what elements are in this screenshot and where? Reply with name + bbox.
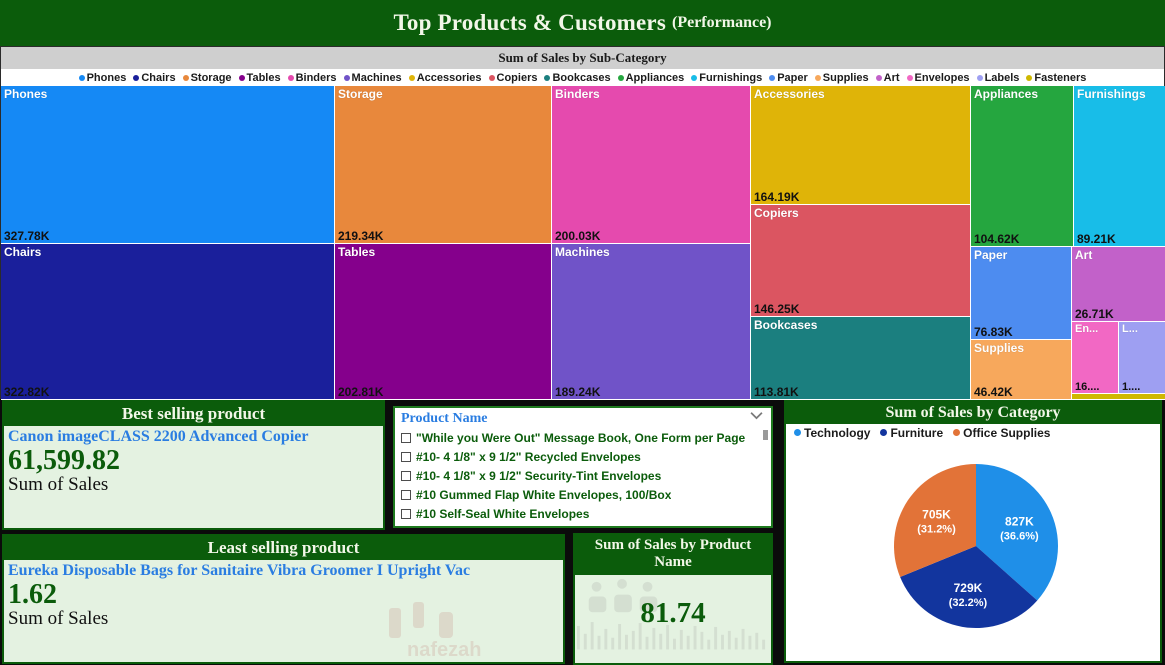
treemap-tile-label: Binders [555,87,600,101]
product-name-card-value: 81.74 [640,597,705,630]
slicer-item[interactable]: #10- 4 1/8" x 9 1/2" Recycled Envelopes [401,447,765,466]
treemap-tile-phones[interactable]: Phones327.78K [1,86,335,244]
slicer-item[interactable]: "While you Were Out" Message Book, One F… [401,428,765,447]
slicer-item[interactable]: #10 Self-Seal White Envelopes [401,504,765,523]
checkbox-icon[interactable] [401,471,411,481]
legend-dot-icon [880,429,887,436]
legend-dot-icon [133,75,139,81]
least-selling-product-title: Least selling product [208,538,360,558]
treemap-tile-art[interactable]: Art26.71K [1072,247,1165,322]
treemap-tile-value: 219.34K [338,229,383,243]
checkbox-icon[interactable] [401,509,411,519]
treemap-tile-value: 26.71K [1075,307,1114,321]
treemap-legend-item[interactable]: Labels [977,72,1020,84]
pie-legend-item[interactable]: Technology [794,426,870,440]
treemap-tile-value: 76.83K [974,325,1013,339]
treemap-legend-label: Appliances [626,72,685,84]
treemap-tile-storage[interactable]: Storage219.34K [335,86,552,244]
treemap-legend-item[interactable]: Art [876,72,900,84]
treemap-tile-furnishings[interactable]: Furnishings89.21K [1074,86,1165,247]
legend-dot-icon [769,75,775,81]
svg-text:nafezah: nafezah [407,639,481,661]
treemap-tile-chairs[interactable]: Chairs322.82K [1,244,335,400]
legend-dot-icon [183,75,189,81]
legend-dot-icon [618,75,624,81]
product-name-card-title-line2: Name [579,554,767,571]
treemap-tile-appliances[interactable]: Appliances104.62K [971,86,1074,247]
dashboard-root: Top Products & Customers (Performance) S… [0,0,1165,665]
treemap-legend-item[interactable]: Bookcases [544,72,610,84]
treemap-tile-label: Accessories [754,87,825,101]
product-name-slicer[interactable]: Product Name "While you Were Out" Messag… [393,406,773,528]
slicer-scrollbar-thumb[interactable] [763,430,768,440]
slicer-item-label: #10 Gummed Flap White Envelopes, 100/Box [416,488,671,502]
treemap-legend-label: Accessories [417,72,482,84]
treemap-legend-label: Binders [296,72,337,84]
treemap-canvas[interactable]: Phones327.78KChairs322.82KStorage219.34K… [1,86,1164,400]
treemap-tile-supplies[interactable]: Supplies46.42K [971,340,1072,400]
checkbox-icon[interactable] [401,452,411,462]
treemap-legend-label: Machines [352,72,402,84]
slicer-item-label: #10 Self-Seal White Envelopes [416,507,589,521]
treemap-tile-value: 1.... [1122,381,1140,393]
best-selling-product-measure: Sum of Sales [8,475,379,496]
treemap-tile-value: 89.21K [1077,232,1116,246]
pie-legend-label: Office Supplies [963,426,1050,440]
slicer-item-label: "While you Were Out" Message Book, One F… [416,431,745,445]
treemap-tile-label: En... [1075,323,1098,335]
treemap-legend-item[interactable]: Accessories [409,72,482,84]
checkbox-icon[interactable] [401,433,411,443]
legend-dot-icon [977,75,983,81]
treemap-tile-bookcases[interactable]: Bookcases113.81K [751,317,971,400]
pie-title: Sum of Sales by Category [885,404,1060,422]
treemap-tile-value: 189.24K [555,385,600,399]
legend-dot-icon [953,429,960,436]
treemap-legend-item[interactable]: Phones [79,72,127,84]
treemap-panel: Sum of Sales by Sub-Category PhonesChair… [0,46,1165,399]
legend-dot-icon [876,75,882,81]
treemap-legend-item[interactable]: Tables [239,72,281,84]
treemap-tile-envelopes[interactable]: En...16.... [1072,322,1119,394]
treemap-legend-label: Furnishings [699,72,762,84]
least-selling-product-value: 1.62 [8,580,559,609]
treemap-tile-label: Bookcases [754,318,817,332]
pie-legend-label: Furniture [890,426,943,440]
treemap-tile-copiers[interactable]: Copiers146.25K [751,205,971,317]
treemap-legend-item[interactable]: Furnishings [691,72,762,84]
treemap-tile-value: 202.81K [338,385,383,399]
treemap-tile-label: Phones [4,87,47,101]
pie-slice-value-label: 729K [954,581,983,595]
treemap-legend-item[interactable]: Storage [183,72,232,84]
legend-dot-icon [691,75,697,81]
page-subtitle: (Performance) [672,14,772,32]
treemap-tile-value: 16.... [1075,381,1099,393]
legend-dot-icon [409,75,415,81]
treemap-tile-value: 104.62K [974,232,1019,246]
treemap-tile-label: Appliances [974,87,1038,101]
least-selling-product-name: Eureka Disposable Bags for Sanitaire Vib… [8,562,559,580]
legend-dot-icon [288,75,294,81]
treemap-tile-label: Furnishings [1077,87,1146,101]
legend-dot-icon [489,75,495,81]
legend-dot-icon [344,75,350,81]
treemap-tile-paper[interactable]: Paper76.83K [971,247,1072,340]
treemap-tile-binders[interactable]: Binders200.03K [552,86,751,244]
treemap-tile-label: Copiers [754,206,799,220]
treemap-tile-labels[interactable]: L...1.... [1119,322,1165,394]
best-selling-product-name: Canon imageCLASS 2200 Advanced Copier [8,428,379,446]
pie-chart-area[interactable]: 827K(36.6%)729K(32.2%)705K(31.2%) [786,441,1160,661]
treemap-header: Sum of Sales by Sub-Category [1,47,1164,69]
checkbox-icon[interactable] [401,490,411,500]
treemap-tile-value: 46.42K [974,385,1013,399]
treemap-legend-item[interactable]: Envelopes [907,72,970,84]
least-selling-product-header: Least selling product [4,536,563,560]
treemap-tile-label: Chairs [4,245,41,259]
treemap-legend-item[interactable]: Fasteners [1026,72,1086,84]
treemap-legend-label: Labels [985,72,1020,84]
treemap-legend-label: Envelopes [915,72,970,84]
legend-dot-icon [239,75,245,81]
best-selling-product-body: Canon imageCLASS 2200 Advanced Copier 61… [4,426,383,498]
sales-by-category-panel: Sum of Sales by Category TechnologyFurni… [784,400,1162,663]
least-selling-product-measure: Sum of Sales [8,609,559,630]
legend-dot-icon [794,429,801,436]
slicer-item-list[interactable]: "While you Were Out" Message Book, One F… [395,428,771,523]
pie-slice-value-label: 705K [922,507,951,521]
treemap-tile-label: Art [1075,248,1092,262]
least-selling-product-card: Least selling product Eureka Disposable … [2,534,565,664]
treemap-legend-label: Copiers [497,72,538,84]
treemap-legend-label: Art [884,72,900,84]
treemap-legend-label: Chairs [141,72,175,84]
pie-slice-percent-label: (36.6%) [1000,531,1039,543]
treemap-tile-accessories[interactable]: Accessories164.19K [751,86,971,205]
least-selling-product-body: Eureka Disposable Bags for Sanitaire Vib… [4,560,563,632]
slicer-header: Product Name [395,408,771,428]
treemap-legend-label: Fasteners [1034,72,1086,84]
slicer-item[interactable]: #10 Gummed Flap White Envelopes, 100/Box [401,485,765,504]
treemap-legend-item[interactable]: Paper [769,72,808,84]
treemap-legend-label: Tables [247,72,281,84]
sum-of-sales-by-product-name-card: Sum of Sales by Product Name [573,533,773,665]
treemap-legend-item[interactable]: Machines [344,72,402,84]
chevron-down-icon[interactable] [750,411,763,421]
product-name-card-body: 81.74 [575,575,771,653]
treemap-tile-label: Machines [555,245,610,259]
product-name-card-header: Sum of Sales by Product Name [575,535,771,575]
treemap-legend-label: Phones [87,72,127,84]
treemap-legend-item[interactable]: Binders [288,72,337,84]
best-selling-product-header: Best selling product [4,402,383,426]
treemap-legend-item[interactable]: Chairs [133,72,175,84]
treemap-tile-label: Storage [338,87,383,101]
treemap-tile-tables[interactable]: Tables202.81K [335,244,552,400]
legend-dot-icon [1026,75,1032,81]
treemap-legend-label: Storage [191,72,232,84]
treemap-tile-label: Paper [974,248,1007,262]
pie-slice-value-label: 827K [1005,515,1034,529]
dashboard-title-bar: Top Products & Customers (Performance) [0,0,1165,46]
treemap-tile-value: 322.82K [4,385,49,399]
treemap-tile-label: Tables [338,245,375,259]
treemap-tile-value: 113.81K [754,385,799,399]
pie-header: Sum of Sales by Category [786,402,1160,424]
product-name-card-title-line1: Sum of Sales by Product [579,537,767,554]
slicer-item-label: #10- 4 1/8" x 9 1/2" Recycled Envelopes [416,450,641,464]
treemap-tile-machines[interactable]: Machines189.24K [552,244,751,400]
treemap-tile-value: 146.25K [754,302,799,316]
pie-legend-item[interactable]: Office Supplies [953,426,1050,440]
treemap-tile-value: 200.03K [555,229,600,243]
legend-dot-icon [815,75,821,81]
treemap-legend-label: Paper [777,72,808,84]
treemap-legend-label: Bookcases [552,72,610,84]
treemap-legend-item[interactable]: Supplies [815,72,869,84]
treemap-legend-label: Supplies [823,72,869,84]
best-selling-product-title: Best selling product [122,404,265,424]
treemap-tile-value: 327.78K [4,229,49,243]
pie-legend-item[interactable]: Furniture [880,426,943,440]
treemap-title: Sum of Sales by Sub-Category [498,50,666,66]
slicer-item-label: #10- 4 1/8" x 9 1/2" Security-Tint Envel… [416,469,661,483]
treemap-legend-item[interactable]: Appliances [618,72,685,84]
page-title: Top Products & Customers [393,10,666,36]
pie-legend-label: Technology [804,426,870,440]
legend-dot-icon [544,75,550,81]
best-selling-product-card: Best selling product Canon imageCLASS 22… [2,400,385,530]
pie-slice-percent-label: (32.2%) [949,597,988,609]
treemap-tile-value: 164.19K [754,190,799,204]
legend-dot-icon [907,75,913,81]
pie-legend: TechnologyFurnitureOffice Supplies [786,424,1160,441]
treemap-tile-label: Supplies [974,341,1024,355]
treemap-tile-label: L... [1122,323,1138,335]
slicer-item[interactable]: #10- 4 1/8" x 9 1/2" Security-Tint Envel… [401,466,765,485]
treemap-legend-item[interactable]: Copiers [489,72,538,84]
slicer-title: Product Name [401,411,487,426]
best-selling-product-value: 61,599.82 [8,446,379,475]
legend-dot-icon [79,75,85,81]
pie-slice-percent-label: (31.2%) [917,523,956,535]
pie-chart[interactable]: 827K(36.6%)729K(32.2%)705K(31.2%) [786,441,1160,661]
treemap-legend: PhonesChairsStorageTablesBindersMachines… [1,69,1164,86]
